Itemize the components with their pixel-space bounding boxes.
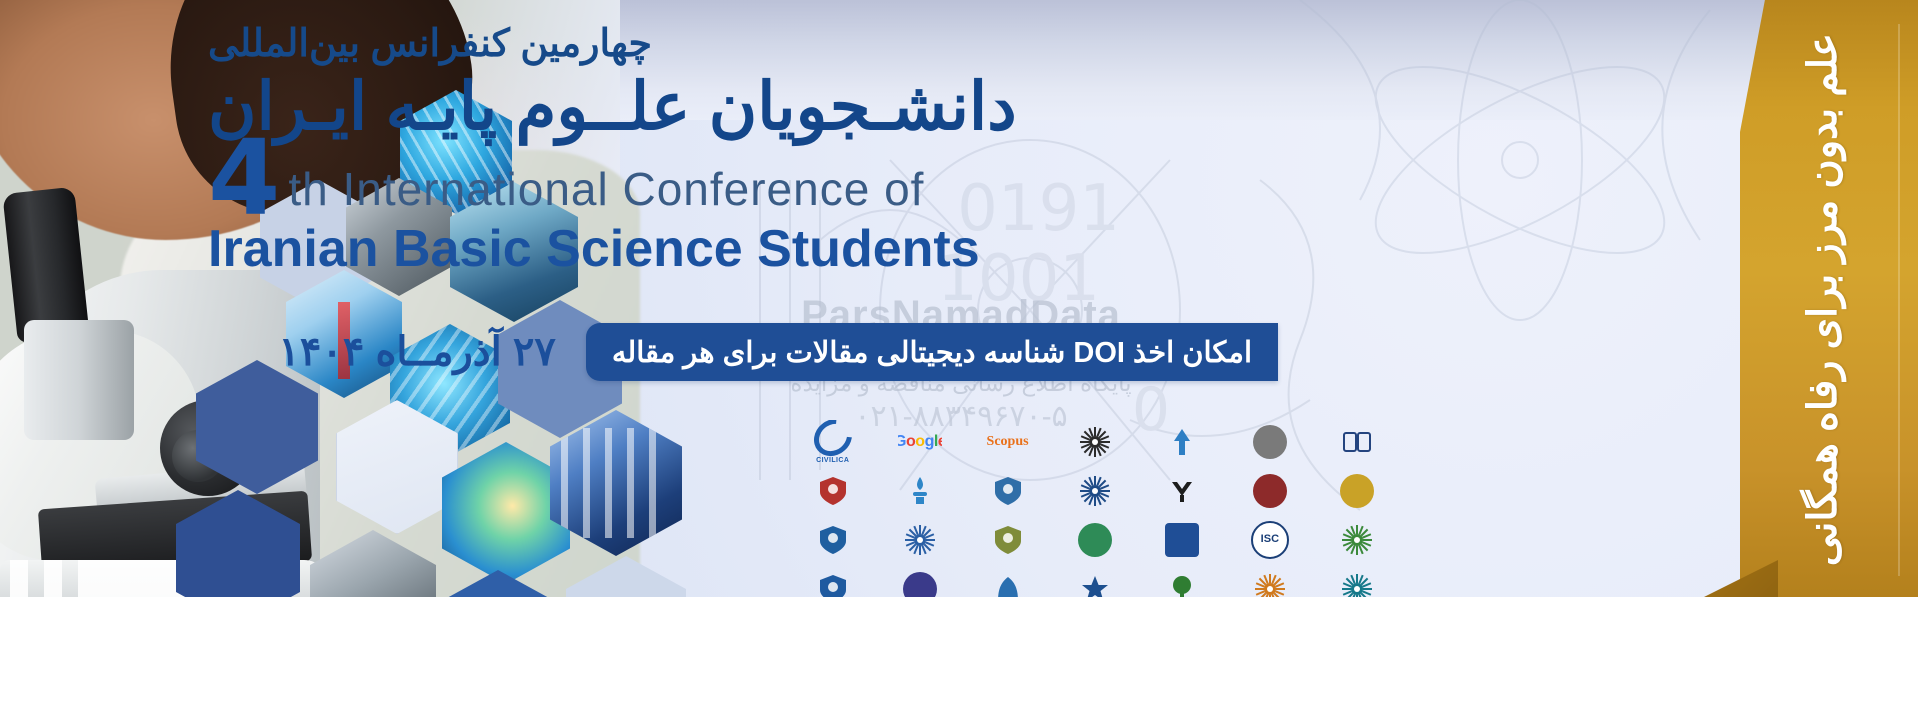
open-book-emblem-mark [1340,425,1374,459]
golden-seal-1-logo[interactable] [1335,469,1379,513]
conference-title-en: Iranian Basic Science Students [208,221,1268,278]
university-crest-2-logo[interactable] [986,469,1030,513]
conference-subtitle-en: th International Conference of [288,165,924,219]
academy-seal-1-mark [903,523,937,557]
sponsor-logo-strip: CIVILICAGoogleScopusISCISI [790,418,1400,608]
university-crest-3-mark [816,523,850,557]
university-crest-4-mark [991,523,1025,557]
title-block: چهارمین کنفرانس بین‌المللی دانشـجویان عل… [208,22,1268,278]
atom-line-art [1280,0,1760,350]
university-seal-1-mark [1078,425,1112,459]
institute-mark-1-logo[interactable] [1248,420,1292,464]
ribbon-slogan: علم بدون مرز برای رفاه همگانی [1800,33,1846,566]
date-and-doi-row: امکان اخذ DOI شناسه دیجیتالی مقالات برای… [148,320,1278,384]
conference-edition-row: 4 th International Conference of [208,138,1268,219]
arrow-emblem-logo[interactable] [1160,420,1204,464]
bottom-white-strip [0,597,1918,727]
blue-square-logo-mark [1165,523,1199,557]
university-crest-3-logo[interactable] [811,518,855,562]
civilica-label: CIVILICA [816,457,849,464]
conference-kicker: چهارمین کنفرانس بین‌المللی [208,22,1268,68]
open-book-emblem-logo[interactable] [1335,420,1379,464]
institute-mark-2-logo[interactable] [1248,469,1292,513]
bird-emblem-mark [1165,474,1199,508]
doi-notice-badge: امکان اخذ DOI شناسه دیجیتالی مقالات برای… [586,323,1278,381]
edition-number: 4 [208,138,280,219]
rosette-seal-1-mark [1078,474,1112,508]
ribbon-slogan-wrap: علم بدون مرز برای رفاه همگانی [1740,0,1918,600]
lamp-emblem-logo[interactable] [898,469,942,513]
civilica-logo[interactable]: CIVILICA [811,420,855,464]
scopus-logo[interactable]: Scopus [986,420,1030,464]
university-crest-1-mark [816,474,850,508]
blue-square-logo-logo[interactable] [1160,518,1204,562]
multicolor-seal-logo[interactable] [1335,518,1379,562]
green-ribbon-logo-mark [1078,523,1112,557]
multicolor-seal-mark [1340,523,1374,557]
institute-mark-1-mark [1253,425,1287,459]
rosette-seal-1-logo[interactable] [1073,469,1117,513]
isc-logo-logo[interactable]: ISC [1248,518,1292,562]
lamp-emblem-mark [903,474,937,508]
university-crest-4-logo[interactable] [986,518,1030,562]
conference-title-fa: دانشـجویان علــوم پایـه ایـران [208,70,1268,143]
university-crest-1-logo[interactable] [811,469,855,513]
university-crest-2-mark [991,474,1025,508]
bird-emblem-logo[interactable] [1160,469,1204,513]
green-ribbon-logo-logo[interactable] [1073,518,1117,562]
golden-seal-1-mark [1340,474,1374,508]
conference-date: ۲۷ آذرمــاه ۱۴۰۴ [278,329,555,375]
academy-seal-1-logo[interactable] [898,518,942,562]
isc-logo-mark: ISC [1251,521,1289,559]
university-seal-1-logo[interactable] [1073,420,1117,464]
arrow-emblem-mark [1165,425,1199,459]
conference-banner: 0191 1001 1 0 [0,0,1918,727]
institute-mark-2-mark [1253,474,1287,508]
microscope-tube [24,320,134,440]
google-logo[interactable]: Google [898,420,942,464]
